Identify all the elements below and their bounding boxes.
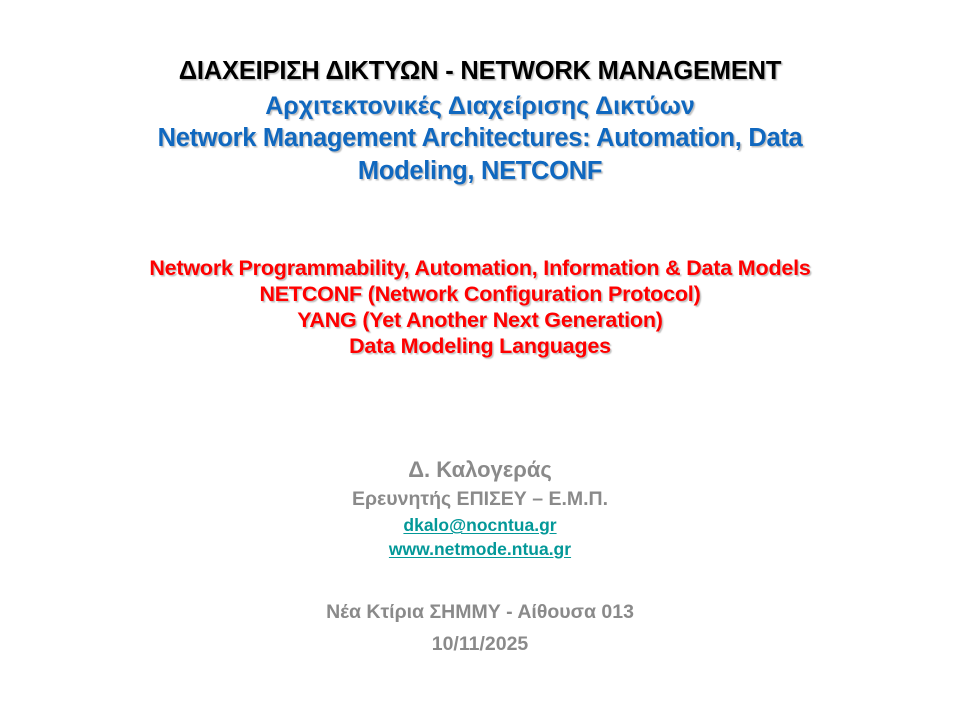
author-email-link[interactable]: dkalo@nocntua.gr: [0, 513, 960, 537]
venue-block: Νέα Κτίρια ΣΗΜΜΥ - Αίθουσα 013 10/11/202…: [0, 596, 960, 660]
author-website-link[interactable]: www.netmode.ntua.gr: [0, 537, 960, 561]
title-block: ΔΙΑΧΕΙΡΙΣΗ ΔΙΚΤΥΩΝ - NETWORK MANAGEMENT …: [0, 56, 960, 188]
author-affiliation: Ερευνητής ΕΠΙΣΕΥ – Ε.Μ.Π.: [0, 485, 960, 513]
subtitle-english-line-2: Modeling, NETCONF: [0, 155, 960, 188]
topics-block: Network Programmability, Automation, Inf…: [0, 255, 960, 359]
course-title: ΔΙΑΧΕΙΡΙΣΗ ΔΙΚΤΥΩΝ - NETWORK MANAGEMENT: [0, 56, 960, 87]
author-block: Δ. Καλογεράς Ερευνητής ΕΠΙΣΕΥ – Ε.Μ.Π. d…: [0, 455, 960, 561]
presentation-date: 10/11/2025: [0, 628, 960, 660]
subtitle-english-line-1: Network Management Architectures: Automa…: [0, 122, 960, 155]
author-name: Δ. Καλογεράς: [0, 455, 960, 485]
subtitle-greek: Αρχιτεκτονικές Διαχείρισης Δικτύων: [0, 90, 960, 122]
topic-line-yang: YANG (Yet Another Next Generation): [0, 307, 960, 333]
topic-line-data-modeling: Data Modeling Languages: [0, 333, 960, 359]
title-slide: ΔΙΑΧΕΙΡΙΣΗ ΔΙΚΤΥΩΝ - NETWORK MANAGEMENT …: [0, 0, 960, 720]
venue-location: Νέα Κτίρια ΣΗΜΜΥ - Αίθουσα 013: [0, 596, 960, 628]
topic-line-programmability: Network Programmability, Automation, Inf…: [0, 255, 960, 281]
topic-line-netconf: NETCONF (Network Configuration Protocol): [0, 281, 960, 307]
subtitle-english: Network Management Architectures: Automa…: [0, 122, 960, 188]
